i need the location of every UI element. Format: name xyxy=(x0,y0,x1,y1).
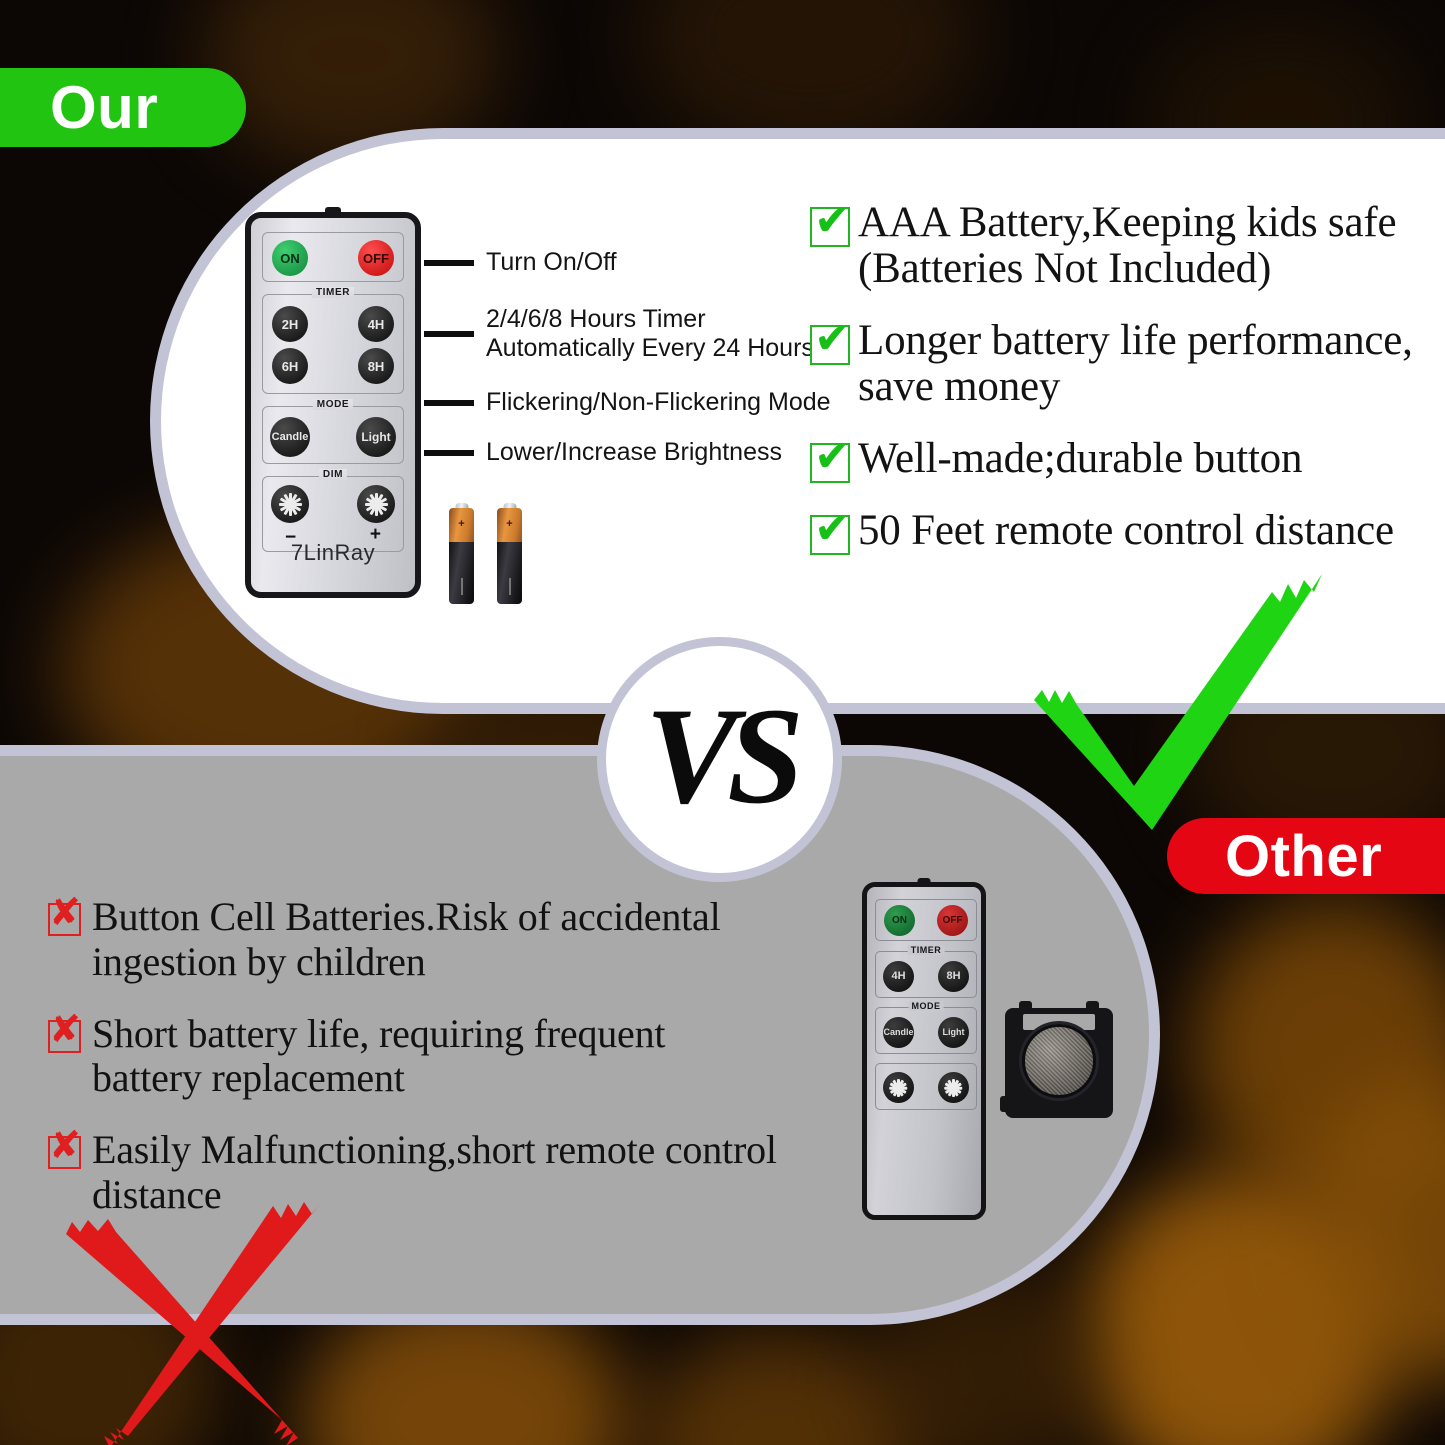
callout-text: 2/4/6/8 Hours Timer Automatically Every … xyxy=(486,305,814,364)
ir-emitter-icon xyxy=(918,878,931,884)
feature-item: ✔ Longer battery life performance, save … xyxy=(810,318,1435,411)
off-button[interactable]: OFF xyxy=(358,240,394,276)
mode-light-button[interactable]: Light xyxy=(356,417,396,457)
other-mode-label: MODE xyxy=(909,1001,944,1011)
other-power-group: ON OFF xyxy=(875,899,977,941)
drawback-item: ✘ Button Cell Batteries.Risk of accident… xyxy=(48,895,778,985)
cross-icon: ✘ xyxy=(48,1020,81,1053)
dim-up-button[interactable] xyxy=(357,485,395,523)
other-dim-up-button[interactable] xyxy=(938,1072,969,1103)
other-dim-down-button[interactable] xyxy=(883,1072,914,1103)
callout-timer: 2/4/6/8 Hours Timer Automatically Every … xyxy=(424,305,814,364)
callout-dim: Lower/Increase Brightness xyxy=(424,438,782,467)
coin-cell-icon xyxy=(1022,1024,1096,1098)
callout-text: Lower/Increase Brightness xyxy=(486,438,782,467)
big-red-x-icon xyxy=(58,1188,358,1445)
cross-icon: ✘ xyxy=(48,903,81,936)
aaa-battery-1: + xyxy=(449,508,474,604)
coin-cell-battery-holder xyxy=(1005,1008,1113,1118)
other-off-button[interactable]: OFF xyxy=(937,905,968,936)
callout-mode: Flickering/Non-Flickering Mode xyxy=(424,388,831,417)
ir-emitter-icon xyxy=(325,207,341,214)
sun-filled-icon xyxy=(278,492,302,516)
mode-button-group: MODE Candle Light xyxy=(262,406,404,464)
other-remote: ON OFF TIMER 4H 8H MODE Candle Light xyxy=(862,882,986,1220)
feature-item: ✔ Well-made;durable button xyxy=(810,436,1435,483)
badge-our-label: Our xyxy=(50,73,158,142)
aaa-battery-2: + xyxy=(497,508,522,604)
on-button[interactable]: ON xyxy=(272,240,308,276)
other-mode-light-button[interactable]: Light xyxy=(938,1017,969,1048)
our-remote: ON OFF TIMER 2H 4H 6H 8H MODE Candle Lig… xyxy=(245,212,421,598)
vs-label: VS xyxy=(645,687,794,825)
timer-6h-button[interactable]: 6H xyxy=(272,348,308,384)
callout-leader-line xyxy=(424,450,474,456)
power-button-group: ON OFF xyxy=(262,232,404,282)
other-mode-group: MODE Candle Light xyxy=(875,1007,977,1054)
other-timer-group: TIMER 4H 8H xyxy=(875,951,977,998)
callout-text: Turn On/Off xyxy=(486,248,617,277)
timer-group-label: TIMER xyxy=(312,287,354,298)
mode-group-label: MODE xyxy=(313,399,353,410)
other-timer-4h-button[interactable]: 4H xyxy=(883,961,914,992)
dim-down-button[interactable] xyxy=(271,485,309,523)
drawback-text: Short battery life, requiring frequent b… xyxy=(92,1012,778,1102)
feature-item: ✔ AAA Battery,Keeping kids safe (Batteri… xyxy=(810,200,1435,293)
feature-text: Longer battery life performance, save mo… xyxy=(858,318,1435,411)
check-icon: ✔ xyxy=(810,325,850,365)
other-dim-group xyxy=(875,1063,977,1110)
remote-brand-label: 7LinRay xyxy=(251,540,415,566)
other-mode-candle-button[interactable]: Candle xyxy=(883,1017,914,1048)
timer-8h-button[interactable]: 8H xyxy=(358,348,394,384)
big-green-check-icon xyxy=(1022,540,1402,840)
other-timer-8h-button[interactable]: 8H xyxy=(938,961,969,992)
drawback-item: ✘ Short battery life, requiring frequent… xyxy=(48,1012,778,1102)
callout-leader-line xyxy=(424,400,474,406)
timer-4h-button[interactable]: 4H xyxy=(358,306,394,342)
callout-text: Flickering/Non-Flickering Mode xyxy=(486,388,831,417)
check-icon: ✔ xyxy=(810,207,850,247)
mode-candle-button[interactable]: Candle xyxy=(270,417,310,457)
sun-hollow-icon xyxy=(944,1078,963,1097)
timer-button-group: TIMER 2H 4H 6H 8H xyxy=(262,294,404,394)
other-timer-label: TIMER xyxy=(908,945,945,955)
callout-leader-line xyxy=(424,331,474,337)
sun-hollow-icon xyxy=(364,492,388,516)
badge-our: Our xyxy=(0,68,246,147)
drawback-text: Button Cell Batteries.Risk of accidental… xyxy=(92,895,778,985)
sun-filled-icon xyxy=(889,1078,908,1097)
callout-leader-line xyxy=(424,260,474,266)
feature-text: Well-made;durable button xyxy=(858,436,1302,482)
feature-list: ✔ AAA Battery,Keeping kids safe (Batteri… xyxy=(810,200,1435,580)
vs-badge: VS xyxy=(597,637,842,882)
other-on-button[interactable]: ON xyxy=(884,905,915,936)
check-icon: ✔ xyxy=(810,443,850,483)
timer-2h-button[interactable]: 2H xyxy=(272,306,308,342)
dim-group-label: DIM xyxy=(319,469,347,480)
callout-power: Turn On/Off xyxy=(424,248,617,277)
cross-icon: ✘ xyxy=(48,1136,81,1169)
feature-text: AAA Battery,Keeping kids safe (Batteries… xyxy=(858,200,1435,293)
check-icon: ✔ xyxy=(810,515,850,555)
